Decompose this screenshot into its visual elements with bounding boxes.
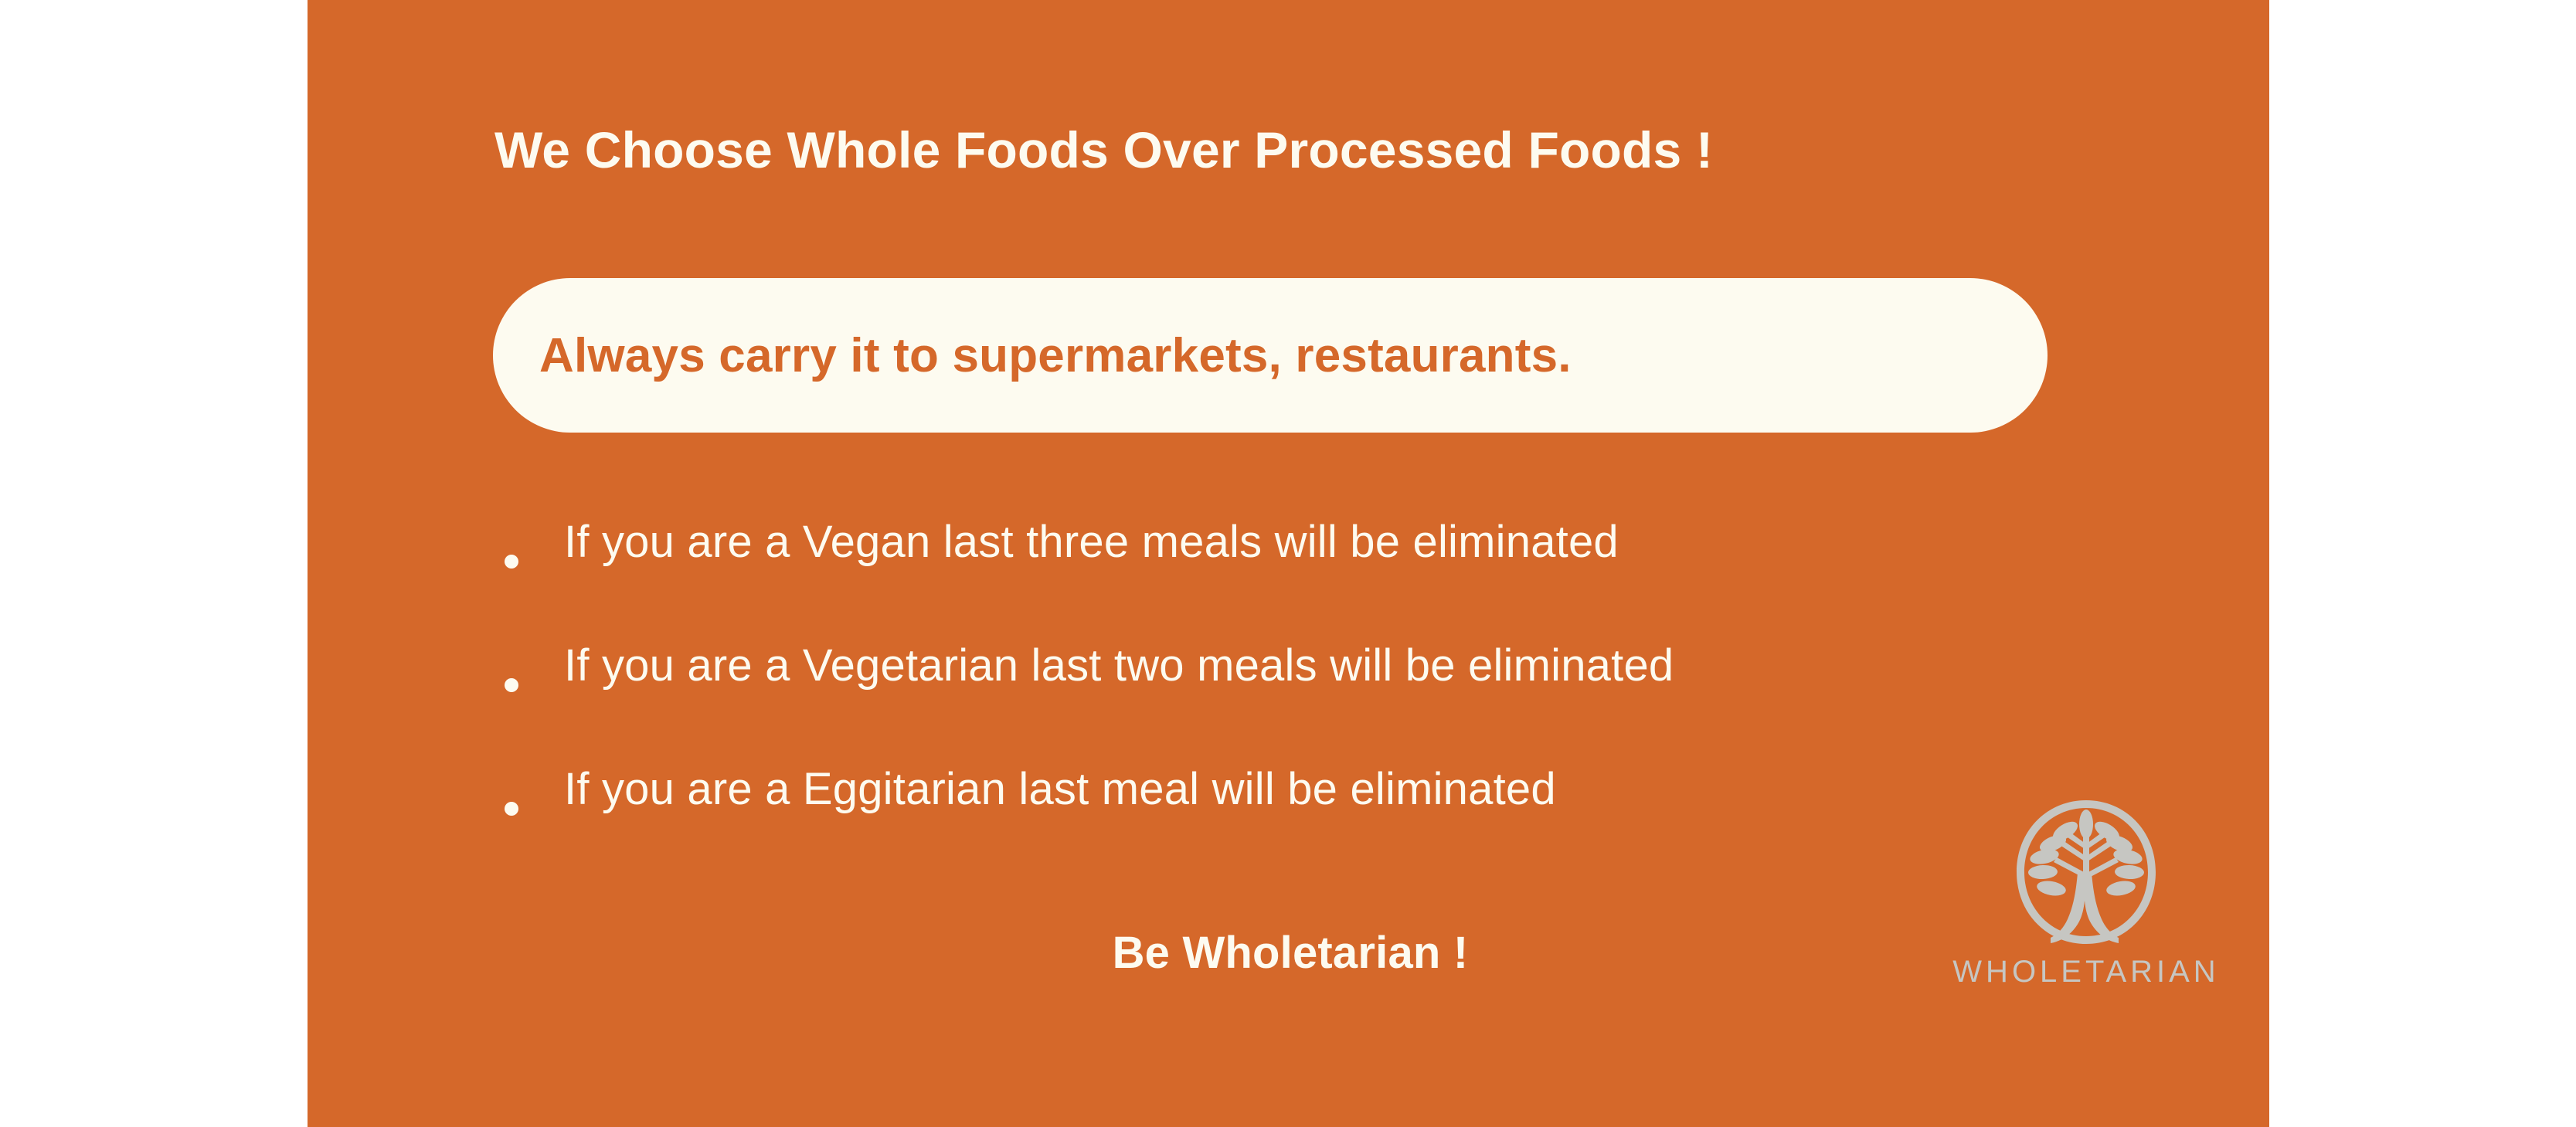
list-item-label: If you are a Vegetarian last two meals w… xyxy=(564,641,1674,691)
bullet-dot-icon xyxy=(505,802,518,816)
brand-logo: WHOLETARIAN xyxy=(1932,796,2241,990)
orange-poster-card: We Choose Whole Foods Over Processed Foo… xyxy=(308,0,2269,1127)
tree-in-circle-icon xyxy=(2009,796,2163,950)
poster-canvas: We Choose Whole Foods Over Processed Foo… xyxy=(0,0,2576,1127)
list-item-label: If you are a Vegan last three meals will… xyxy=(564,518,1619,567)
callout-pill-text: Always carry it to supermarkets, restaur… xyxy=(539,328,1572,383)
tagline: Be Wholetarian ! xyxy=(1012,927,1568,979)
list-item-label: If you are a Eggitarian last meal will b… xyxy=(564,765,1556,814)
callout-pill: Always carry it to supermarkets, restaur… xyxy=(493,278,2048,433)
list-item: If you are a Vegetarian last two meals w… xyxy=(493,641,2193,765)
brand-wordmark: WHOLETARIAN xyxy=(1932,955,2241,990)
list-item: If you are a Vegan last three meals will… xyxy=(493,518,2193,641)
page-title: We Choose Whole Foods Over Processed Foo… xyxy=(494,122,2117,179)
bullet-dot-icon xyxy=(505,555,518,569)
bullet-dot-icon xyxy=(505,678,518,692)
